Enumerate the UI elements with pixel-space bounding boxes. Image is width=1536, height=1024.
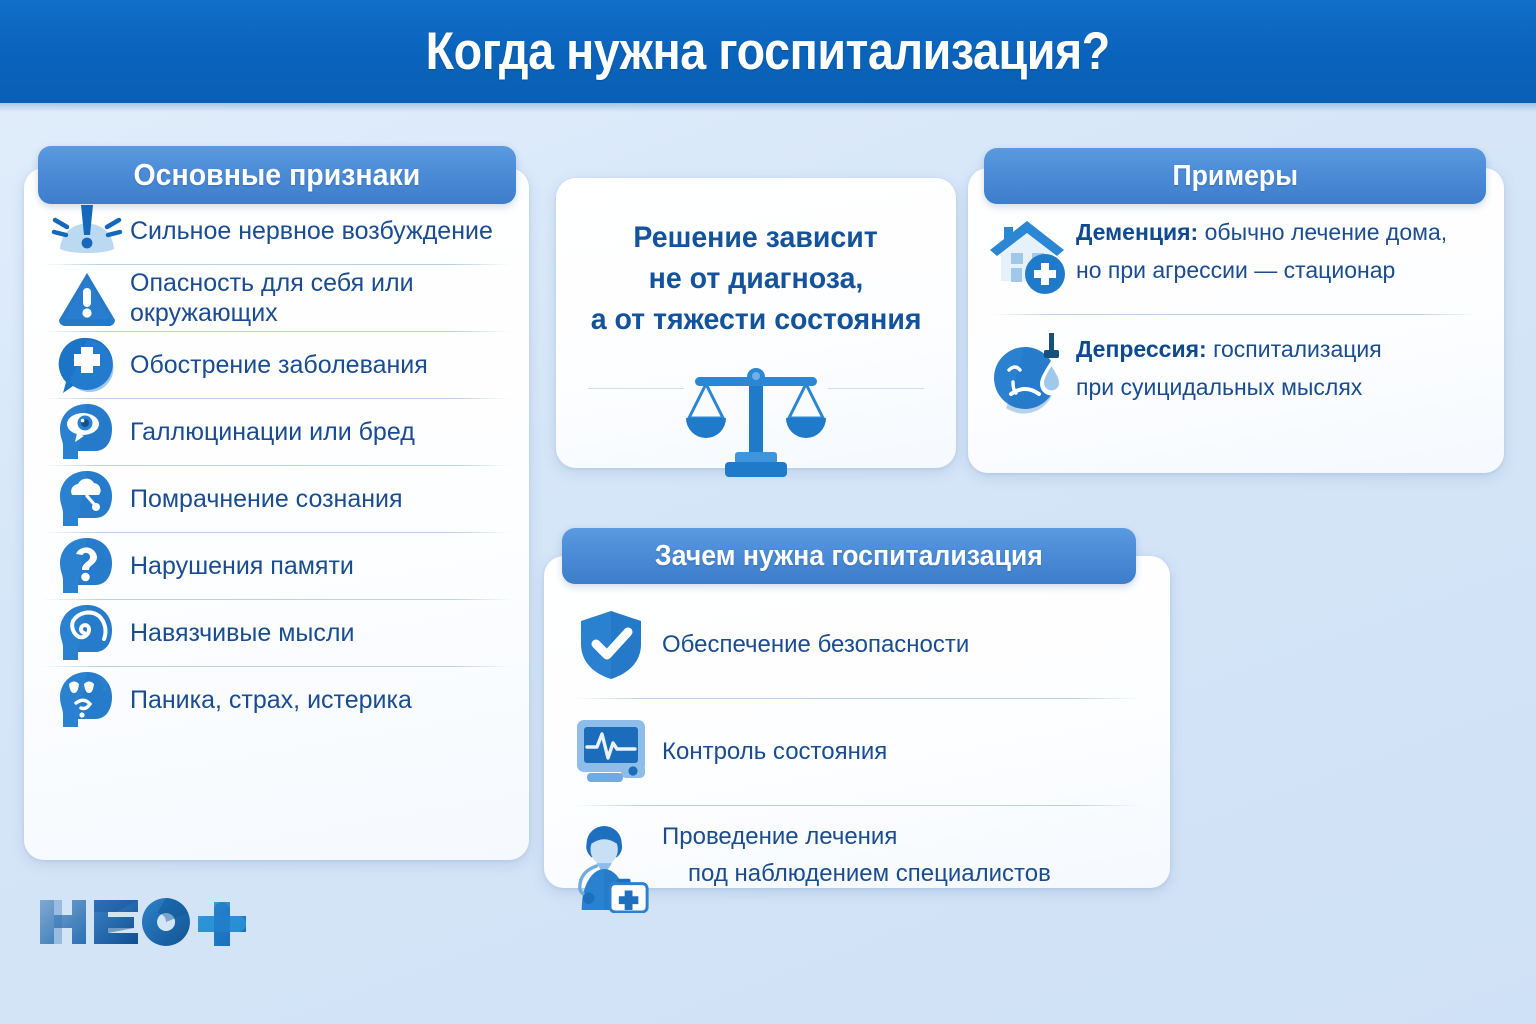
divider (574, 805, 1142, 806)
brand-logo (36, 890, 266, 952)
divider (574, 698, 1142, 699)
list-item-label: Обострение заболевания (126, 350, 428, 381)
examples-list: Деменция: обычно лечение дома, но при аг… (968, 168, 1504, 415)
list-item-label: Помрачнение сознания (126, 484, 403, 515)
list-item-label: Нарушения памяти (126, 551, 354, 582)
balance-scales-icon (681, 360, 831, 480)
examples-panel-header: Примеры (984, 148, 1486, 204)
head-panic-face-icon (48, 669, 126, 731)
alert-burst-icon (48, 200, 126, 262)
list-item[interactable]: Опасность для себя или окружающих (42, 265, 511, 331)
signs-panel-header: Основные признаки (38, 146, 516, 204)
signs-panel-title: Основные признаки (134, 157, 421, 193)
key-message-line-1: Решение зависит (634, 218, 878, 259)
header-shadow (0, 103, 1536, 112)
sad-face-teardrop-icon (986, 329, 1072, 415)
list-item-label: Депрессия: госпитализация при суицидальн… (1072, 329, 1382, 401)
house-medical-icon (986, 212, 1072, 298)
list-item[interactable]: Контроль состояния (570, 709, 1146, 795)
signs-list: Сильное нервное возбуждение Опасность дл… (24, 168, 529, 743)
list-item-label: Проведение лечения под наблюдением специ… (652, 822, 1051, 889)
page-title: Когда нужна госпитализация? (426, 21, 1110, 82)
examples-panel-title: Примеры (1172, 160, 1298, 193)
neo-plus-logo-icon (36, 890, 266, 952)
list-item-label: Паника, страх, истерика (126, 685, 412, 716)
list-item-label: Опасность для себя или окружающих (126, 268, 511, 329)
list-item[interactable]: Галлюцинации или бред (42, 399, 511, 465)
key-message-line-3: а от тяжести состояния (591, 300, 922, 341)
divider (828, 388, 924, 389)
why-list: Обеспечение безопасности Контроль состоя… (544, 556, 1170, 914)
doctor-bag-icon (570, 822, 652, 914)
list-item[interactable]: Обострение заболевания (42, 332, 511, 398)
why-panel-title: Зачем нужна госпитализация (655, 540, 1043, 573)
head-question-icon (48, 535, 126, 597)
list-item[interactable]: Навязчивые мысли (42, 600, 511, 666)
head-eye-icon (48, 401, 126, 463)
list-item-label: Сильное нервное возбуждение (126, 216, 493, 247)
why-panel-header: Зачем нужна госпитализация (562, 528, 1136, 584)
list-item-label: Деменция: обычно лечение дома, но при аг… (1072, 212, 1447, 284)
list-item[interactable]: Деменция: обычно лечение дома, но при аг… (986, 212, 1482, 298)
example-subtext: но при агрессии — стационар (1076, 256, 1447, 284)
list-item-label: Обеспечение безопасности (652, 630, 969, 659)
header-band: Когда нужна госпитализация? (0, 0, 1536, 103)
ecg-monitor-icon (570, 713, 652, 791)
key-message-line-2: не от диагноза, (649, 259, 864, 300)
list-item[interactable]: Обеспечение безопасности (570, 602, 1146, 688)
why-item-subtext: под наблюдением специалистов (662, 859, 1051, 888)
infographic-canvas: Когда нужна госпитализация? Основные при… (0, 0, 1536, 1024)
shield-check-icon (570, 606, 652, 684)
medical-cross-bubble-icon (48, 334, 126, 396)
example-text: госпитализация (1207, 336, 1382, 362)
list-item-label: Контроль состояния (652, 737, 887, 766)
list-item[interactable]: Сильное нервное возбуждение (42, 198, 511, 264)
example-term: Депрессия: (1076, 336, 1207, 362)
balance-scales-wrap (556, 360, 956, 490)
why-item-title: Проведение лечения (662, 823, 897, 850)
list-item[interactable]: Нарушения памяти (42, 533, 511, 599)
list-item[interactable]: Депрессия: госпитализация при суицидальн… (986, 329, 1482, 415)
warning-triangle-icon (48, 267, 126, 329)
example-text: обычно лечение дома, (1198, 219, 1447, 245)
divider (992, 314, 1476, 315)
head-cloud-icon (48, 468, 126, 530)
list-item[interactable]: Помрачнение сознания (42, 466, 511, 532)
list-item-label: Навязчивые мысли (126, 618, 354, 649)
example-term: Деменция: (1076, 219, 1198, 245)
example-subtext: при суицидальных мыслях (1076, 373, 1382, 401)
list-item[interactable]: Паника, страх, истерика (42, 667, 511, 733)
divider (588, 388, 684, 389)
list-item-label: Галлюцинации или бред (126, 417, 415, 448)
list-item[interactable]: Проведение лечения под наблюдением специ… (570, 816, 1146, 914)
head-spiral-icon (48, 602, 126, 664)
